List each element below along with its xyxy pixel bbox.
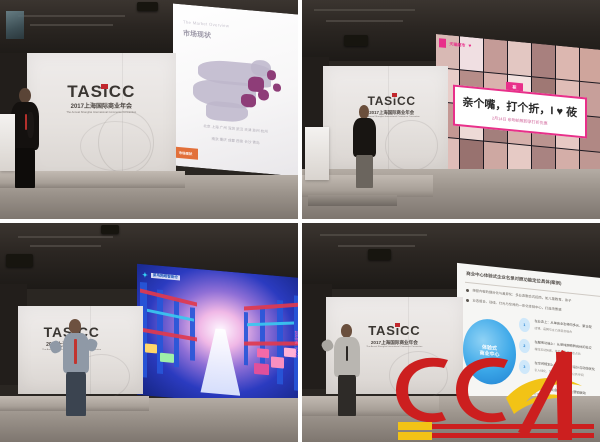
led-wall: 天猫超市 ♥ 莜 亲个嘴，打个折，I ♥ 莜 2月14日 亲吻拍照即享打折优惠 bbox=[436, 34, 600, 186]
backdrop-ornament bbox=[385, 120, 437, 170]
warehouse-box bbox=[145, 343, 157, 353]
presenter-figure bbox=[57, 319, 96, 415]
led-photo-cell bbox=[532, 43, 555, 78]
led-photo-cell bbox=[580, 47, 600, 82]
backdrop-ornament bbox=[80, 121, 151, 171]
backdrop-ornament bbox=[389, 351, 449, 399]
ceiling-speaker bbox=[6, 254, 33, 267]
warehouse-beam bbox=[244, 341, 298, 345]
ceiling-speaker bbox=[137, 2, 158, 11]
event-backdrop: TASiCC 2017上海国际商业年会 The Annual Shanghai … bbox=[27, 53, 176, 180]
slide-section-tab: 市场现状 bbox=[173, 146, 198, 160]
ceiling-strip bbox=[320, 234, 427, 236]
ceiling-strip bbox=[314, 9, 415, 11]
presenter-arm bbox=[49, 339, 63, 354]
warehouse-box bbox=[271, 357, 284, 369]
ceiling-strip bbox=[18, 15, 125, 17]
led-photo-cell bbox=[556, 45, 579, 80]
presenter-head bbox=[19, 88, 31, 103]
collage-panel-bottom-left[interactable]: ✦ 菜鸟网络智能仓 智慧物流 · 无人仓 TASiCC 2017上海国际商业年会… bbox=[0, 223, 298, 442]
lectern bbox=[305, 127, 329, 180]
tasicc-en-tagline: The Annual Shanghai International Commer… bbox=[52, 112, 150, 115]
deck-circle-line-2: 商业中心 bbox=[479, 351, 499, 359]
deck-center-circle: 体验式 商业中心 bbox=[463, 317, 516, 387]
stage-platform bbox=[302, 396, 439, 416]
photo-collage: The Market Overview 市场现状 北京 上海 广州 深圳 武汉 … bbox=[0, 0, 600, 442]
bullet-dot-icon bbox=[466, 289, 469, 292]
warehouse-box bbox=[257, 348, 269, 358]
deck-item-number: 2 bbox=[519, 338, 530, 353]
logo-accent-box bbox=[395, 323, 400, 327]
warehouse-box bbox=[254, 363, 269, 375]
warehouse-rack bbox=[244, 313, 248, 366]
led-side-label: 智慧物流 · 无人仓 bbox=[294, 330, 298, 357]
presenter-legs bbox=[66, 372, 86, 415]
presenter-figure bbox=[350, 105, 380, 188]
heart-icon: ♥ bbox=[468, 42, 471, 48]
collage-panel-top-left[interactable]: The Market Overview 市场现状 北京 上海 广州 深圳 武汉 … bbox=[0, 0, 298, 219]
ceiling-strip bbox=[30, 245, 102, 247]
ceiling-strip bbox=[326, 20, 403, 22]
collage-panel-top-right[interactable]: 天猫超市 ♥ 莜 亲个嘴，打个折，I ♥ 莜 2月14日 亲吻拍照即享打折优惠 … bbox=[302, 0, 600, 219]
map-highlight bbox=[273, 83, 281, 92]
ceiling-speaker bbox=[101, 225, 119, 234]
collage-panel-bottom-right[interactable]: 商业中心体验式企业名录对照功能定位具体(案例) 经营内容的细分化与差异化：多业态… bbox=[302, 223, 600, 442]
led-photo-cell bbox=[484, 38, 507, 73]
warehouse-rack bbox=[190, 308, 194, 361]
logo-accent-box bbox=[392, 93, 397, 97]
event-backdrop: TASiCC 2017上海国际商业年会 The Annual Shanghai … bbox=[323, 66, 448, 171]
warehouse-box bbox=[160, 353, 173, 363]
slide-title: 市场现状 bbox=[183, 28, 211, 40]
ceiling-strip bbox=[338, 245, 415, 247]
presenter-microphone bbox=[25, 114, 27, 130]
led-headline: 亲个嘴，打个折，I ♥ 莜 bbox=[463, 93, 578, 120]
presenter-legs bbox=[338, 375, 356, 415]
presenter-torso bbox=[353, 118, 377, 156]
led-brand-label: 菜鸟网络智能仓 bbox=[151, 273, 180, 281]
ceiling-strip bbox=[30, 24, 113, 26]
bird-logo-icon: ✦ bbox=[142, 271, 148, 280]
stage-step bbox=[308, 195, 397, 206]
presenter-head bbox=[341, 324, 352, 338]
presenter-microphone bbox=[346, 346, 348, 361]
map-highlight bbox=[240, 93, 255, 107]
deck-item-number: 3 bbox=[519, 359, 530, 374]
tasicc-cn-tagline: 2017上海国际商业年会 bbox=[52, 104, 150, 110]
map-highlight bbox=[258, 89, 269, 101]
led-brand-label: 天猫超市 bbox=[449, 40, 465, 48]
deck-item-number: 1 bbox=[519, 317, 530, 332]
window-pane bbox=[6, 11, 24, 39]
deck-item-sub: 店铺、品牌与主力店混合组合 bbox=[534, 326, 572, 334]
presenter-arm bbox=[27, 112, 34, 138]
led-wall: ✦ 菜鸟网络智能仓 智慧物流 · 无人仓 bbox=[137, 264, 298, 410]
presenter-head bbox=[359, 105, 370, 119]
logo-accent-box bbox=[101, 84, 108, 89]
bullet-dot-icon bbox=[466, 299, 469, 302]
presenter-legs bbox=[356, 155, 373, 188]
presenter-head bbox=[69, 319, 81, 333]
presenter-lanyard bbox=[74, 339, 77, 364]
led-brand-square-icon bbox=[439, 38, 446, 48]
projection-screen: The Market Overview 市场现状 北京 上海 广州 深圳 武汉 … bbox=[173, 3, 298, 176]
map-highlight bbox=[267, 70, 276, 80]
led-photo-cell bbox=[508, 41, 531, 76]
presenter-legs bbox=[15, 148, 35, 188]
ceiling-speaker bbox=[368, 249, 392, 260]
ceiling-strip bbox=[18, 236, 113, 238]
presenter-figure bbox=[329, 324, 365, 416]
ceiling-speaker bbox=[344, 35, 368, 46]
lectern bbox=[0, 114, 15, 171]
tasicc-logo: TASiCC 2017上海国际商业年会 The Annual Shanghai … bbox=[52, 83, 150, 115]
